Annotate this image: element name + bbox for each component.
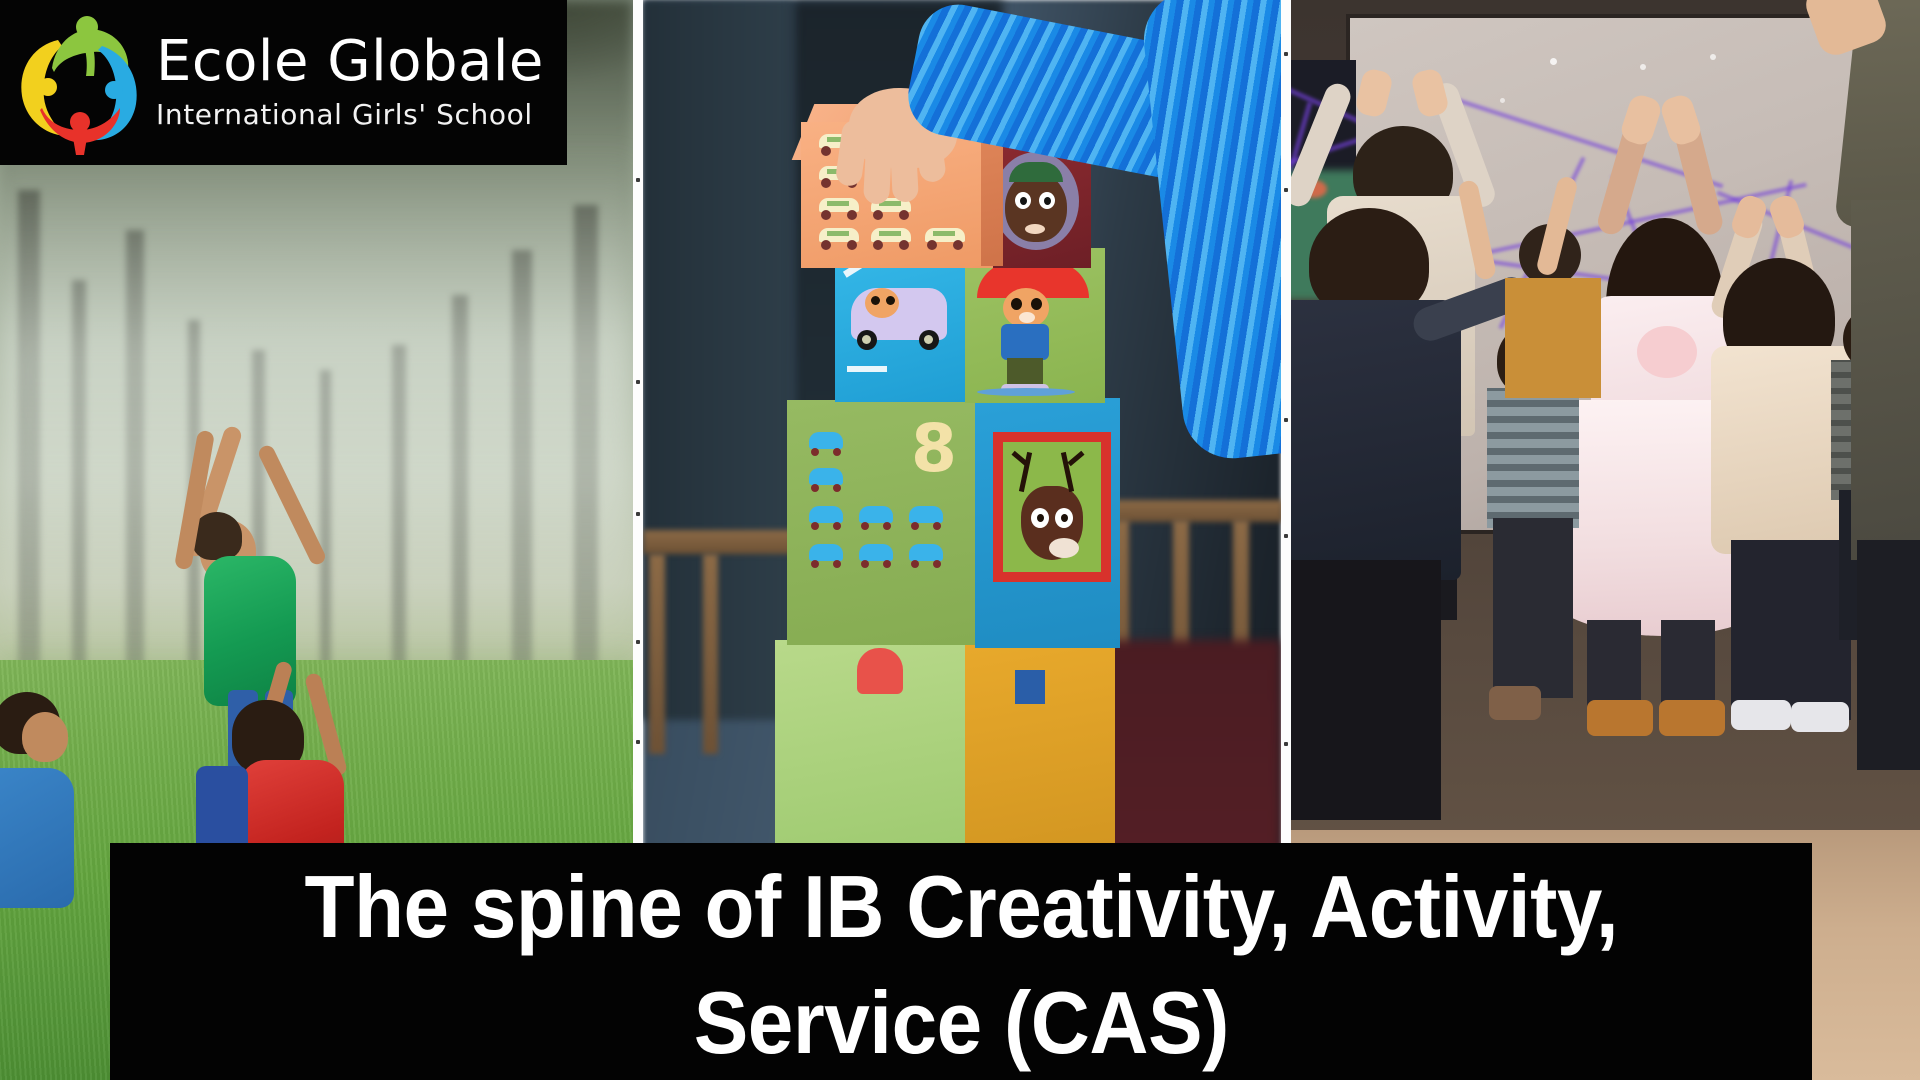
morning-mist bbox=[0, 150, 633, 670]
title-banner: The spine of IB Creativity, Activity, Se… bbox=[110, 843, 1812, 1080]
logo-plate: Ecole Globale International Girls' Schoo… bbox=[0, 0, 567, 165]
block-number-label: 8 bbox=[911, 416, 957, 482]
collage-canvas: 8 bbox=[0, 0, 1920, 1080]
rail-baluster bbox=[703, 554, 718, 754]
logo-wordmark: Ecole Globale International Girls' Schoo… bbox=[156, 34, 544, 131]
dark-doorframe bbox=[643, 0, 793, 720]
logo-subtitle: International Girls' School bbox=[156, 98, 544, 131]
wooden-rail bbox=[643, 530, 793, 554]
four-people-circle-logo-icon bbox=[10, 10, 150, 155]
logo-title: Ecole Globale bbox=[156, 34, 544, 90]
rail-baluster bbox=[649, 554, 665, 754]
wooden-rail bbox=[1098, 500, 1281, 522]
title-text: The spine of IB Creativity, Activity, Se… bbox=[304, 849, 1618, 1080]
